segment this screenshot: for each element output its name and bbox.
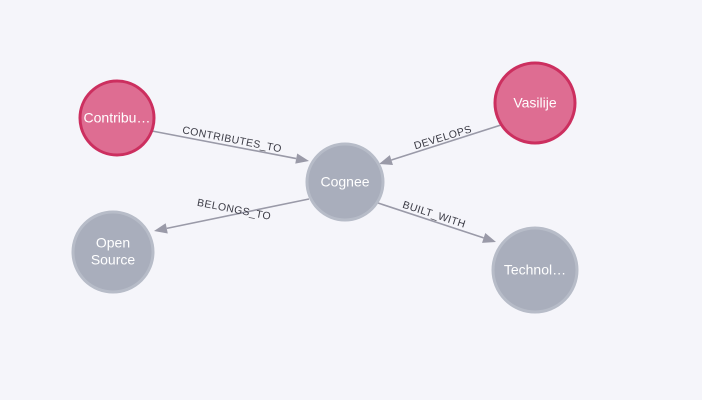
- node-circle-cognee[interactable]: [307, 144, 383, 220]
- node-circle-technology[interactable]: [493, 228, 577, 312]
- graph-edge-contributes-to[interactable]: [152, 131, 309, 164]
- edge-line-contributes-to: [152, 131, 296, 159]
- node-circle-contributor[interactable]: [80, 81, 154, 155]
- graph-node-cognee[interactable]: Cognee: [307, 144, 383, 220]
- graph-edge-develops[interactable]: [379, 125, 501, 165]
- edge-line-develops: [391, 125, 501, 160]
- edge-label-built-with: BUILT_WITH: [401, 199, 467, 231]
- edge-line-built-with: [378, 203, 484, 238]
- arrow-head-develops: [379, 155, 393, 165]
- arrow-head-built-with: [482, 233, 496, 243]
- arrow-head-belongs-to: [154, 223, 168, 233]
- graph-edge-built-with[interactable]: [378, 203, 496, 243]
- edge-label-develops: DEVELOPS: [413, 123, 474, 152]
- graph-node-vasilije[interactable]: Vasilije: [495, 63, 575, 143]
- arrow-head-contributes-to: [295, 153, 309, 163]
- graph-node-contributor[interactable]: Contribu…: [80, 81, 154, 155]
- graph-node-technology[interactable]: Technol…: [493, 228, 577, 312]
- graph-visualization[interactable]: Contribu…VasilijeCogneeOpenSourceTechnol…: [0, 0, 702, 400]
- graph-edge-belongs-to[interactable]: [154, 199, 309, 233]
- node-circle-vasilije[interactable]: [495, 63, 575, 143]
- node-circle-open-source[interactable]: [73, 212, 153, 292]
- graph-canvas: Contribu…VasilijeCogneeOpenSourceTechnol…: [0, 0, 702, 400]
- graph-node-open-source[interactable]: OpenSource: [73, 212, 153, 292]
- edge-line-belongs-to: [167, 199, 309, 228]
- nodes-layer: Contribu…VasilijeCogneeOpenSourceTechnol…: [73, 63, 577, 312]
